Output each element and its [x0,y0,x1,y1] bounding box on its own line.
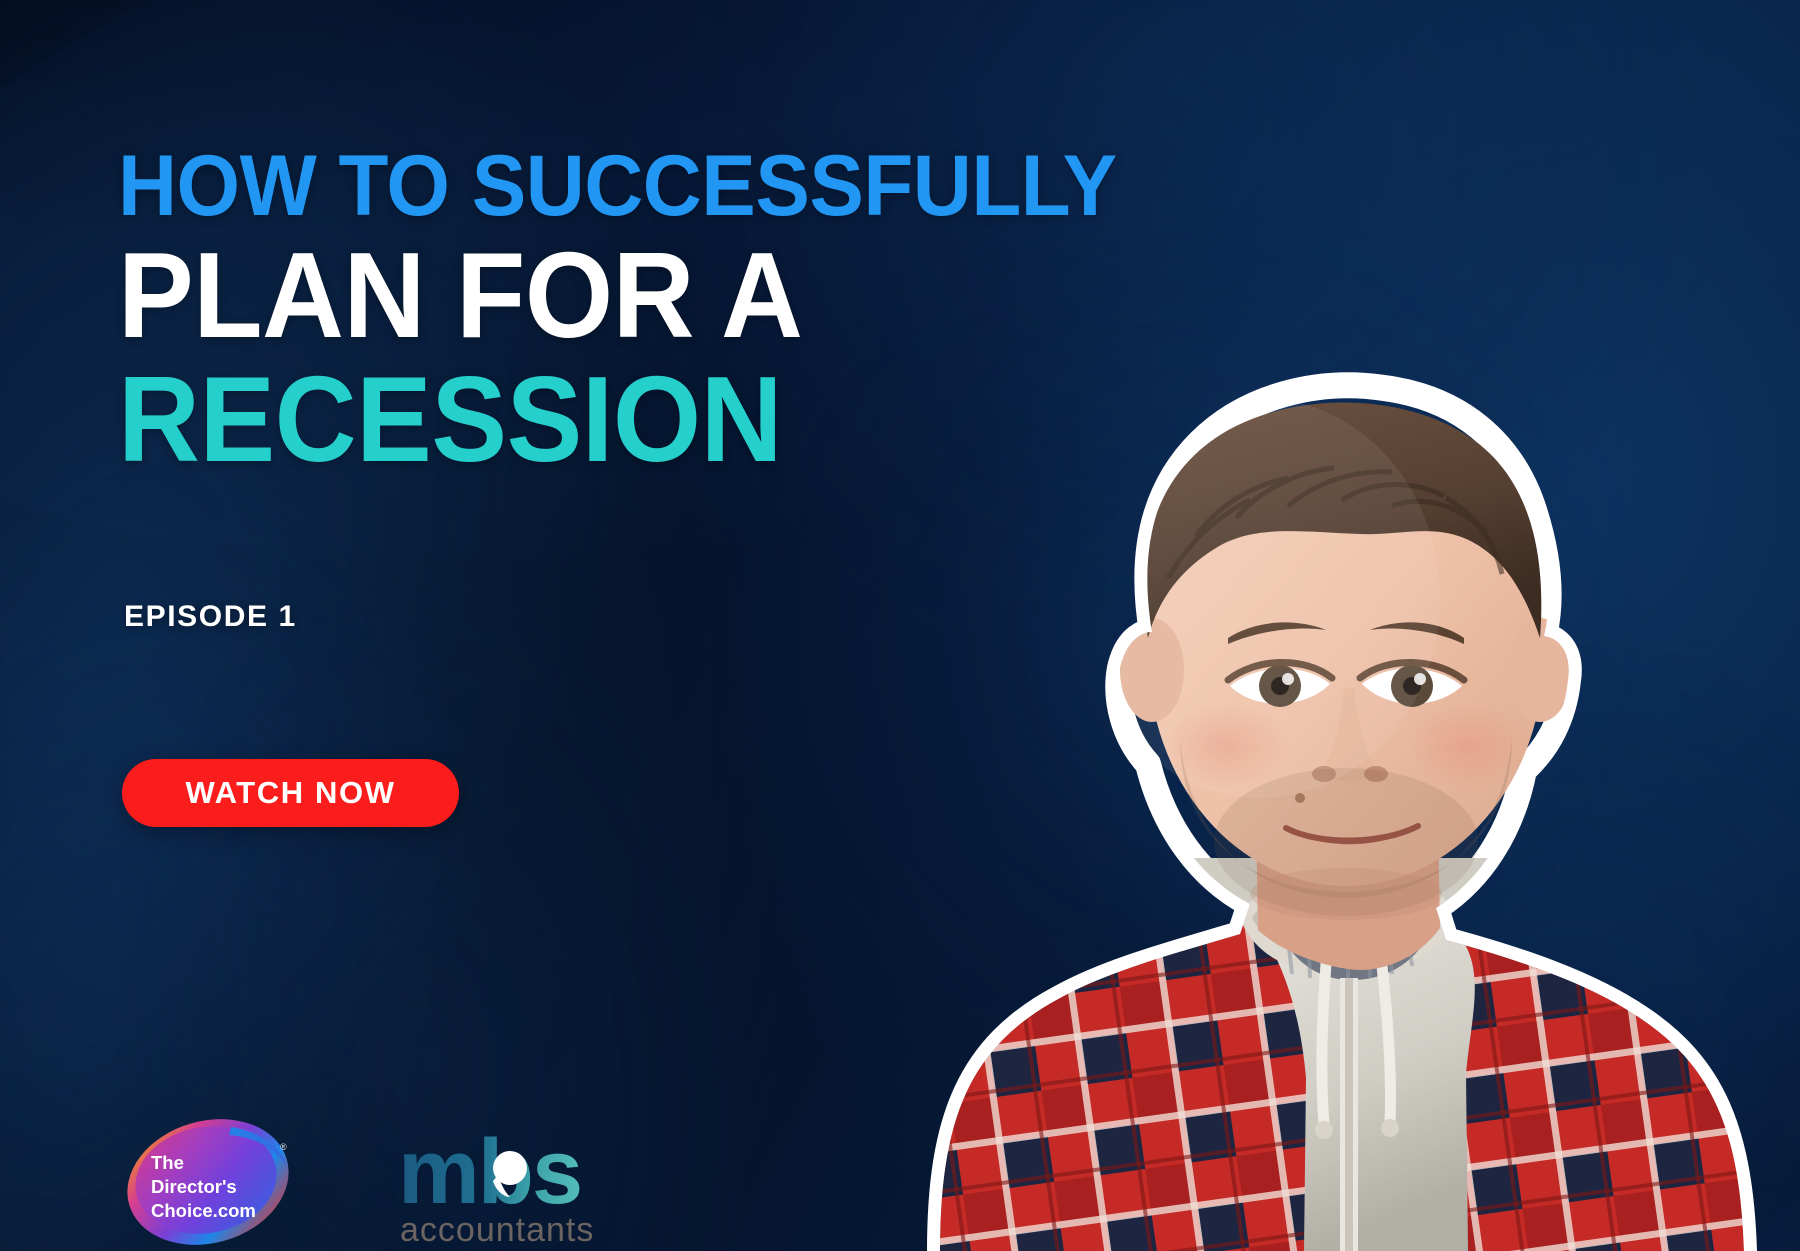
watch-now-button[interactable]: WATCH NOW [122,759,459,827]
mbs-tagline: accountants [400,1211,594,1249]
logo-line-1: The [151,1152,184,1173]
watch-now-label: WATCH NOW [185,775,395,811]
mbs-accountants-logo[interactable]: mbs accountants [388,1125,628,1251]
mbs-wordmark: mbs [398,1125,581,1223]
registered-trademark-icon: ® [280,1142,287,1152]
headline-line-3: RECESSION [118,365,1096,475]
headline-line-1: HOW TO SUCCESSFULLY [118,148,1117,225]
episode-label: EPISODE 1 [124,600,297,634]
logo-line-3: Choice.com [151,1200,256,1221]
video-thumbnail: HOW TO SUCCESSFULLY PLAN FOR A RECESSION… [0,0,1800,1251]
logo-line-2: Director's [151,1176,237,1197]
the-directors-choice-logo[interactable]: The Director's Choice.com ® [113,1113,303,1251]
headline: HOW TO SUCCESSFULLY PLAN FOR A RECESSION [118,148,1169,475]
headline-line-2: PLAN FOR A [118,241,1096,351]
